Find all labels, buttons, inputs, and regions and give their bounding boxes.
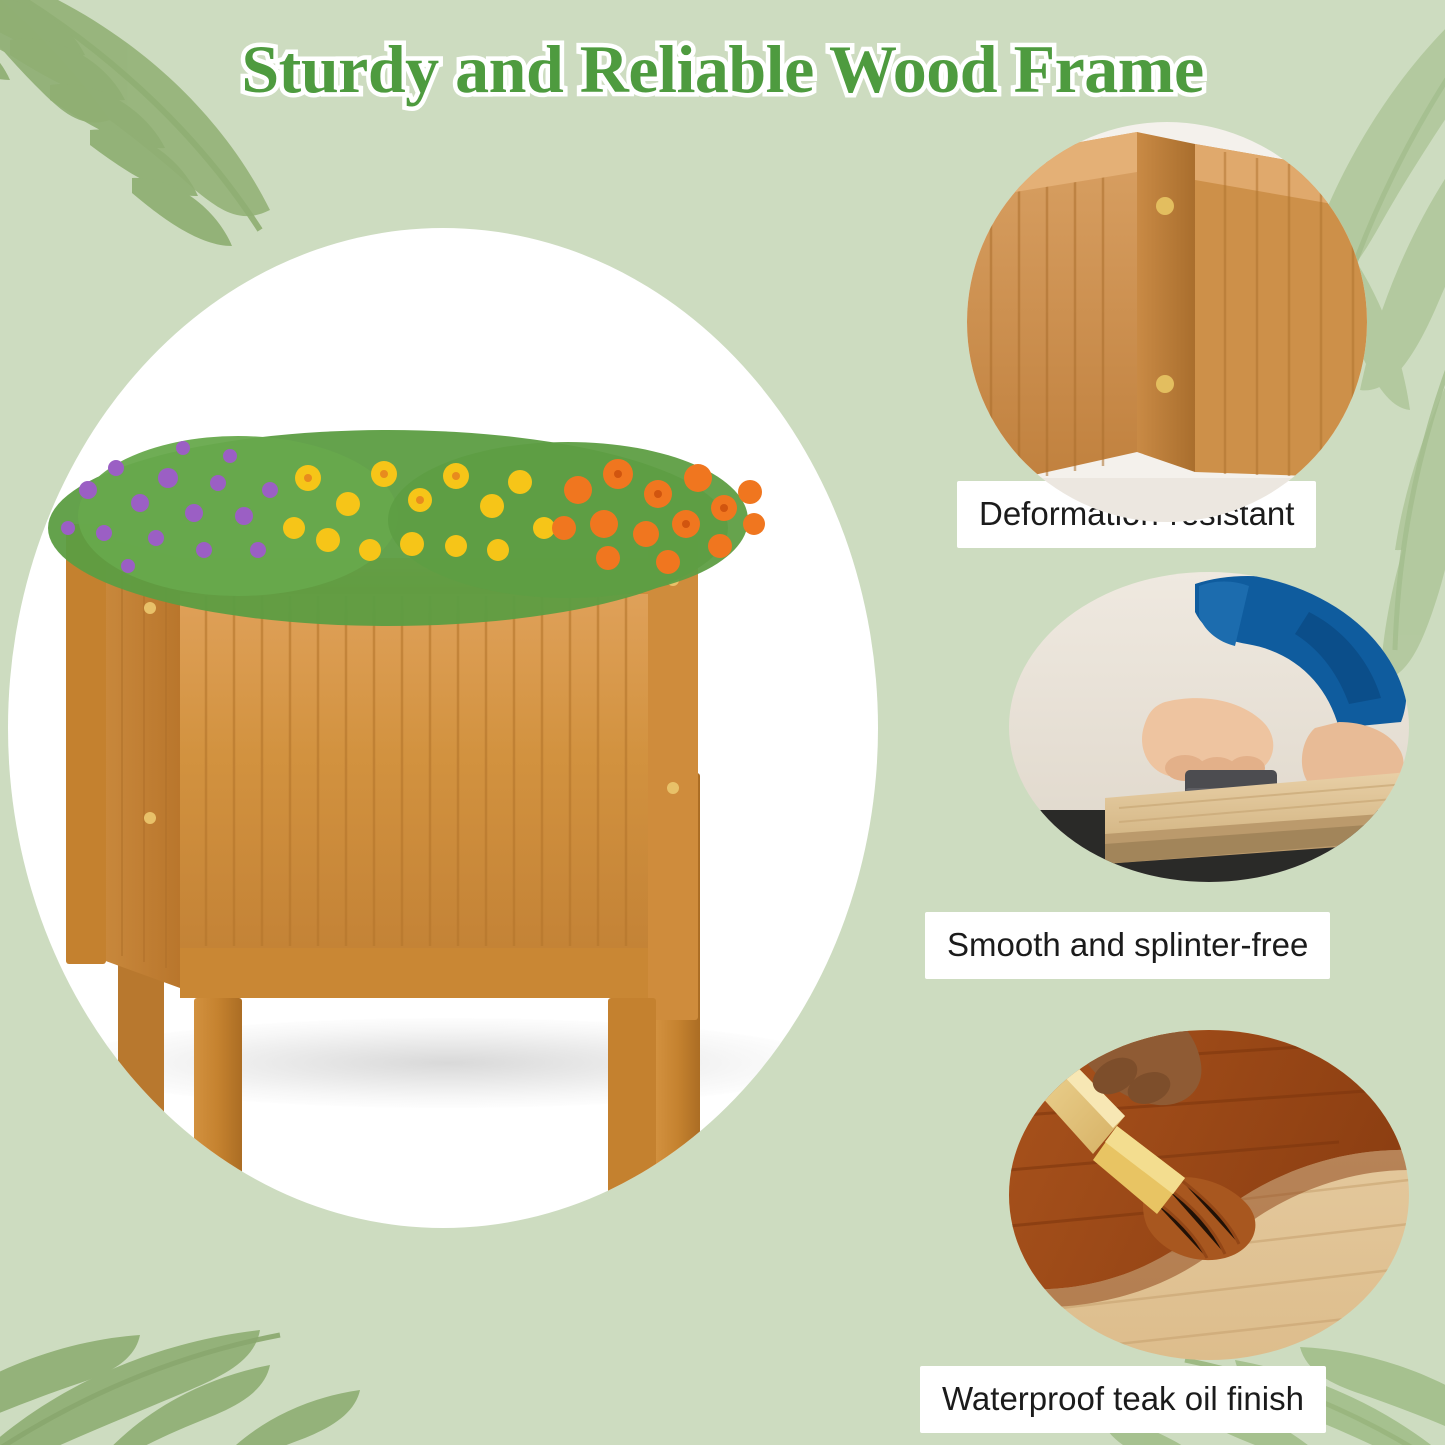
page-title: Sturdy and Reliable Wood Frame [0, 30, 1445, 109]
feature-deformation-resistant [967, 122, 1367, 522]
feature-2-caption: Smooth and splinter-free [925, 912, 1330, 979]
feature-smooth-splinter-free [1009, 572, 1409, 902]
feature-3-caption: Waterproof teak oil finish [920, 1366, 1326, 1433]
feature-waterproof-teak-oil-finish [1009, 1030, 1409, 1360]
promo-image-root: Sturdy and Reliable Wood Frame [0, 0, 1445, 1445]
planter-illustration [8, 228, 878, 1228]
feature-2-image [1009, 572, 1409, 882]
feature-3-image [1009, 1030, 1409, 1360]
feature-1-image [967, 122, 1367, 522]
hero-product-image [8, 228, 878, 1228]
